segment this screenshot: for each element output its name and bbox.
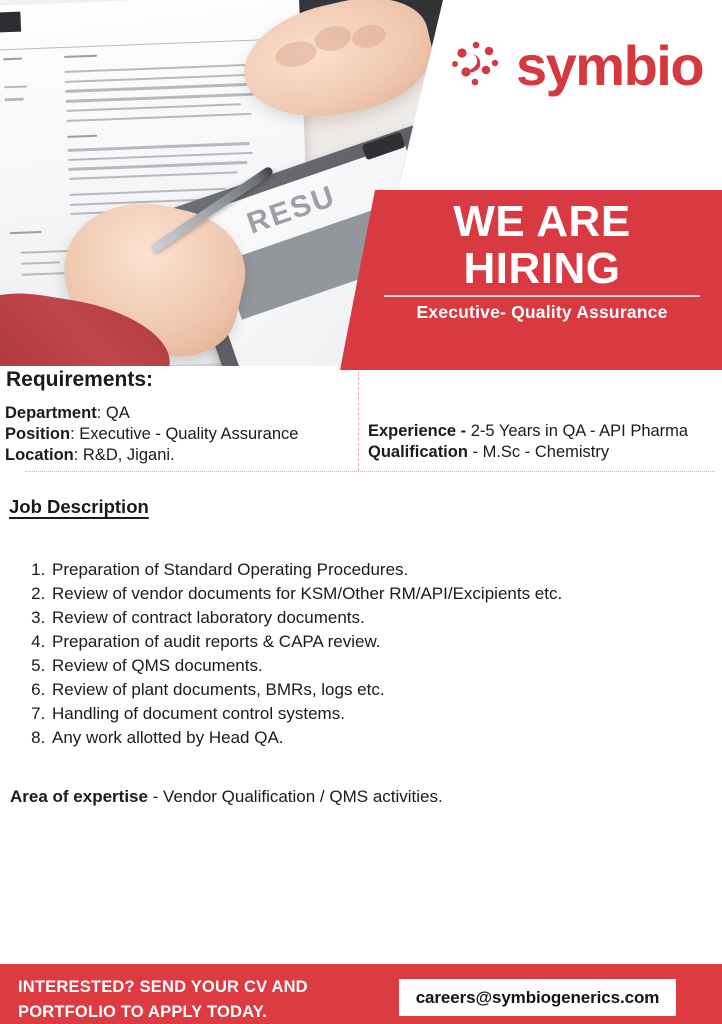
contact-email[interactable]: careers@symbiogenerics.com (416, 988, 660, 1008)
department-value: : QA (97, 404, 130, 422)
banner-divider (384, 295, 700, 297)
resume-rule (0, 39, 281, 51)
list-item: Preparation of audit reports & CAPA revi… (50, 630, 708, 654)
expertise-value: - Vendor Qualification / QMS activities. (148, 787, 443, 806)
requirements-left-column: Department: QA Position: Executive - Qua… (5, 403, 298, 466)
requirements-right-column: Experience - 2-5 Years in QA - API Pharm… (368, 421, 688, 463)
job-description-heading: Job Description (9, 496, 149, 518)
position-row: Position: Executive - Quality Assurance (5, 424, 298, 445)
location-label: Location (5, 446, 74, 464)
hiring-title-line1: WE ARE (453, 197, 630, 246)
location-row: Location: R&D, Jigani. (5, 445, 298, 466)
qualification-value: - M.Sc - Chemistry (468, 443, 609, 461)
vertical-dotted-divider (358, 372, 359, 471)
experience-value: 2-5 Years in QA - API Pharma (466, 422, 688, 440)
dot-cluster-icon (452, 39, 502, 93)
list-item: Review of vendor documents for KSM/Other… (50, 582, 708, 606)
logo-wordmark: symbio (516, 38, 703, 94)
department-row: Department: QA (5, 403, 298, 424)
qualification-row: Qualification - M.Sc - Chemistry (368, 442, 688, 463)
hiring-title-line2: HIRING (464, 244, 621, 293)
requirements-heading: Requirements: (6, 368, 153, 392)
email-box[interactable]: careers@symbiogenerics.com (399, 979, 676, 1016)
location-value: : R&D, Jigani. (74, 446, 175, 464)
list-item: Preparation of Standard Operating Proced… (50, 558, 708, 582)
list-item: Review of QMS documents. (50, 654, 708, 678)
list-item: Handling of document control systems. (50, 702, 708, 726)
symbio-logo: symbio (452, 38, 703, 94)
hiring-title: WE ARE HIRING (384, 198, 700, 292)
list-item: Review of contract laboratory documents. (50, 606, 708, 630)
qualification-label: Qualification (368, 443, 468, 461)
list-item: Any work allotted by Head QA. (50, 726, 708, 750)
experience-row: Experience - 2-5 Years in QA - API Pharm… (368, 421, 688, 442)
resume-header-block (0, 12, 21, 34)
horizontal-dotted-divider (25, 471, 715, 472)
area-of-expertise: Area of expertise - Vendor Qualification… (10, 787, 443, 807)
experience-label: Experience - (368, 422, 466, 440)
footer-cta-text: INTERESTED? SEND YOUR CV AND PORTFOLIO T… (18, 975, 348, 1024)
hiring-subtitle: Executive- Quality Assurance (384, 302, 700, 323)
position-value: : Executive - Quality Assurance (70, 425, 298, 443)
department-label: Department (5, 404, 97, 422)
job-description-list: Preparation of Standard Operating Proced… (18, 558, 708, 750)
job-posting-poster: RESU WE ARE HIRING Executive- Quality As… (0, 0, 722, 1024)
expertise-label: Area of expertise (10, 787, 148, 806)
list-item: Review of plant documents, BMRs, logs et… (50, 678, 708, 702)
position-label: Position (5, 425, 70, 443)
hiring-banner: WE ARE HIRING Executive- Quality Assuran… (340, 190, 722, 370)
